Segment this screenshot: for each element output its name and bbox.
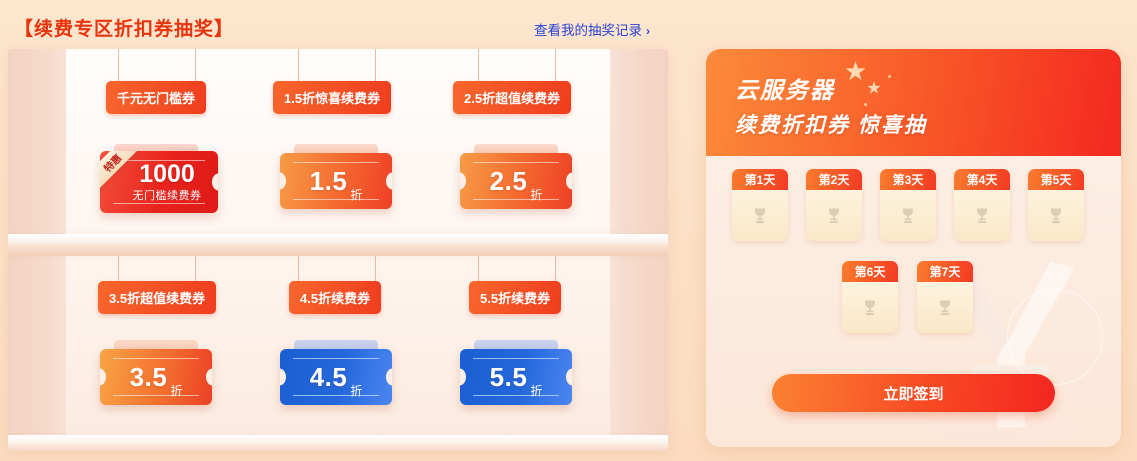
ticket-rule bbox=[293, 358, 379, 359]
hang-string bbox=[195, 256, 196, 283]
ticket-notch bbox=[280, 173, 286, 190]
hang-string bbox=[555, 49, 556, 81]
trophy-icon bbox=[935, 297, 955, 319]
ticket-rule bbox=[293, 162, 379, 163]
ticket-value: 4.5 bbox=[310, 364, 348, 390]
day-card-label: 第5天 bbox=[1028, 169, 1084, 190]
day-card-3[interactable]: 第3天 bbox=[880, 169, 936, 241]
ticket-rule bbox=[473, 358, 559, 359]
trophy-icon bbox=[824, 205, 844, 227]
hang-string bbox=[118, 49, 119, 81]
star-icon bbox=[845, 61, 866, 82]
ribbon-badge: 特惠 bbox=[100, 151, 139, 189]
day-card-2[interactable]: 第2天 bbox=[806, 169, 862, 241]
day-card-label: 第7天 bbox=[917, 261, 973, 282]
ticket-body[interactable]: 特惠 1000 无门槛续费券 bbox=[100, 151, 218, 213]
ticket-notch bbox=[386, 369, 392, 386]
day-card-body bbox=[732, 190, 788, 241]
day-card-label: 第3天 bbox=[880, 169, 936, 190]
ticket-unit: 折 bbox=[350, 382, 362, 399]
trophy-icon bbox=[898, 205, 918, 227]
hang-string bbox=[195, 49, 196, 81]
ticket-notch bbox=[460, 173, 466, 190]
hang-string bbox=[478, 256, 479, 283]
day-card-label: 第2天 bbox=[806, 169, 862, 190]
ticket-notch bbox=[460, 369, 466, 386]
ticket-value: 1.5 bbox=[310, 168, 348, 194]
ticket-value: 5.5 bbox=[490, 364, 528, 390]
ticket-unit: 折 bbox=[170, 382, 182, 399]
ticket-body[interactable]: 2.5 折 bbox=[460, 153, 572, 209]
ticket-body[interactable]: 4.5 折 bbox=[280, 349, 392, 405]
day-card-body bbox=[880, 190, 936, 241]
day-card-body bbox=[842, 282, 898, 333]
day-card-body bbox=[1028, 190, 1084, 241]
hang-string bbox=[298, 256, 299, 283]
day-card-body bbox=[806, 190, 862, 241]
day-card-6[interactable]: 第6天 bbox=[842, 261, 898, 333]
ticket-notch bbox=[280, 369, 286, 386]
hang-string bbox=[375, 49, 376, 81]
star-icon bbox=[867, 81, 881, 95]
ticket-notch bbox=[212, 174, 218, 191]
coupon-tag[interactable]: 2.5折超值续费券 bbox=[453, 81, 571, 114]
hang-string bbox=[118, 256, 119, 283]
coupon-tag[interactable]: 千元无门槛券 bbox=[106, 81, 206, 114]
ticket-notch bbox=[206, 369, 212, 386]
hang-string bbox=[555, 256, 556, 283]
shelf-board bbox=[8, 234, 668, 248]
ticket-rule bbox=[113, 395, 199, 396]
shelf-board bbox=[8, 435, 668, 449]
sparkle-icon bbox=[888, 75, 891, 78]
day-card-label: 第4天 bbox=[954, 169, 1010, 190]
day-card-1[interactable]: 第1天 bbox=[732, 169, 788, 241]
promo-headline-2: 续费折扣券 惊喜抽 bbox=[735, 109, 927, 139]
promo-headline-1: 云服务器 bbox=[735, 71, 835, 105]
promo-header-banner: 云服务器 续费折扣券 惊喜抽 bbox=[706, 49, 1121, 156]
hang-string bbox=[375, 256, 376, 283]
ticket-body[interactable]: 5.5 折 bbox=[460, 349, 572, 405]
day-card-4[interactable]: 第4天 bbox=[954, 169, 1010, 241]
ticket-value: 2.5 bbox=[490, 168, 528, 194]
view-lottery-records-link[interactable]: 查看我的抽奖记录› bbox=[534, 19, 650, 39]
trophy-icon bbox=[1046, 205, 1066, 227]
checkin-button[interactable]: 立即签到 bbox=[772, 374, 1055, 412]
coupon-tag[interactable]: 4.5折续费券 bbox=[289, 281, 381, 314]
ticket-rule bbox=[293, 199, 379, 200]
day-card-5[interactable]: 第5天 bbox=[1028, 169, 1084, 241]
shelf-lip bbox=[8, 248, 668, 256]
shelf-lip bbox=[8, 449, 668, 451]
ticket-body[interactable]: 1.5 折 bbox=[280, 153, 392, 209]
ticket-unit: 折 bbox=[350, 186, 362, 203]
day-card-body bbox=[917, 282, 973, 333]
circle-decoration bbox=[1007, 289, 1103, 385]
ticket-unit: 折 bbox=[530, 186, 542, 203]
ticket-rule bbox=[473, 395, 559, 396]
ticket-rule bbox=[473, 199, 559, 200]
day-card-label: 第1天 bbox=[732, 169, 788, 190]
coupon-tag[interactable]: 5.5折续费券 bbox=[469, 281, 561, 314]
ticket-amount: 1000 bbox=[139, 161, 195, 187]
trophy-icon bbox=[750, 205, 770, 227]
chevron-right-icon: › bbox=[646, 24, 650, 38]
checkin-promo-card: 云服务器 续费折扣券 惊喜抽 第1天 bbox=[706, 49, 1121, 447]
ticket-notch bbox=[100, 369, 106, 386]
ticket-rule bbox=[113, 203, 205, 204]
ticket-value: 3.5 bbox=[130, 364, 168, 390]
promo-page: 【续费专区折扣券抽奖】 查看我的抽奖记录› 千元无门槛券 1.5折惊喜续费券 2… bbox=[0, 0, 1137, 461]
hang-string bbox=[478, 49, 479, 81]
ticket-unit: 折 bbox=[530, 382, 542, 399]
ticket-rule bbox=[473, 162, 559, 163]
day-card-label: 第6天 bbox=[842, 261, 898, 282]
hang-string bbox=[298, 49, 299, 81]
day-card-body bbox=[954, 190, 1010, 241]
ticket-notch bbox=[386, 173, 392, 190]
coupon-tag[interactable]: 3.5折超值续费券 bbox=[98, 281, 216, 314]
ticket-rule bbox=[293, 395, 379, 396]
ticket-body[interactable]: 3.5 折 bbox=[100, 349, 212, 405]
sparkle-icon bbox=[864, 103, 867, 106]
day-card-7[interactable]: 第7天 bbox=[917, 261, 973, 333]
ticket-rule bbox=[113, 358, 199, 359]
trophy-icon bbox=[860, 297, 880, 319]
ticket-subtitle: 无门槛续费券 bbox=[133, 187, 202, 203]
ticket-notch bbox=[566, 369, 572, 386]
ticket-notch bbox=[566, 173, 572, 190]
record-link-label: 查看我的抽奖记录 bbox=[534, 23, 642, 38]
coupon-shelf-cabinet: 千元无门槛券 1.5折惊喜续费券 2.5折超值续费券 特惠 1000 无门槛续费… bbox=[8, 49, 668, 451]
page-title: 【续费专区折扣券抽奖】 bbox=[14, 14, 234, 41]
trophy-icon bbox=[972, 205, 992, 227]
coupon-tag[interactable]: 1.5折惊喜续费券 bbox=[273, 81, 391, 114]
